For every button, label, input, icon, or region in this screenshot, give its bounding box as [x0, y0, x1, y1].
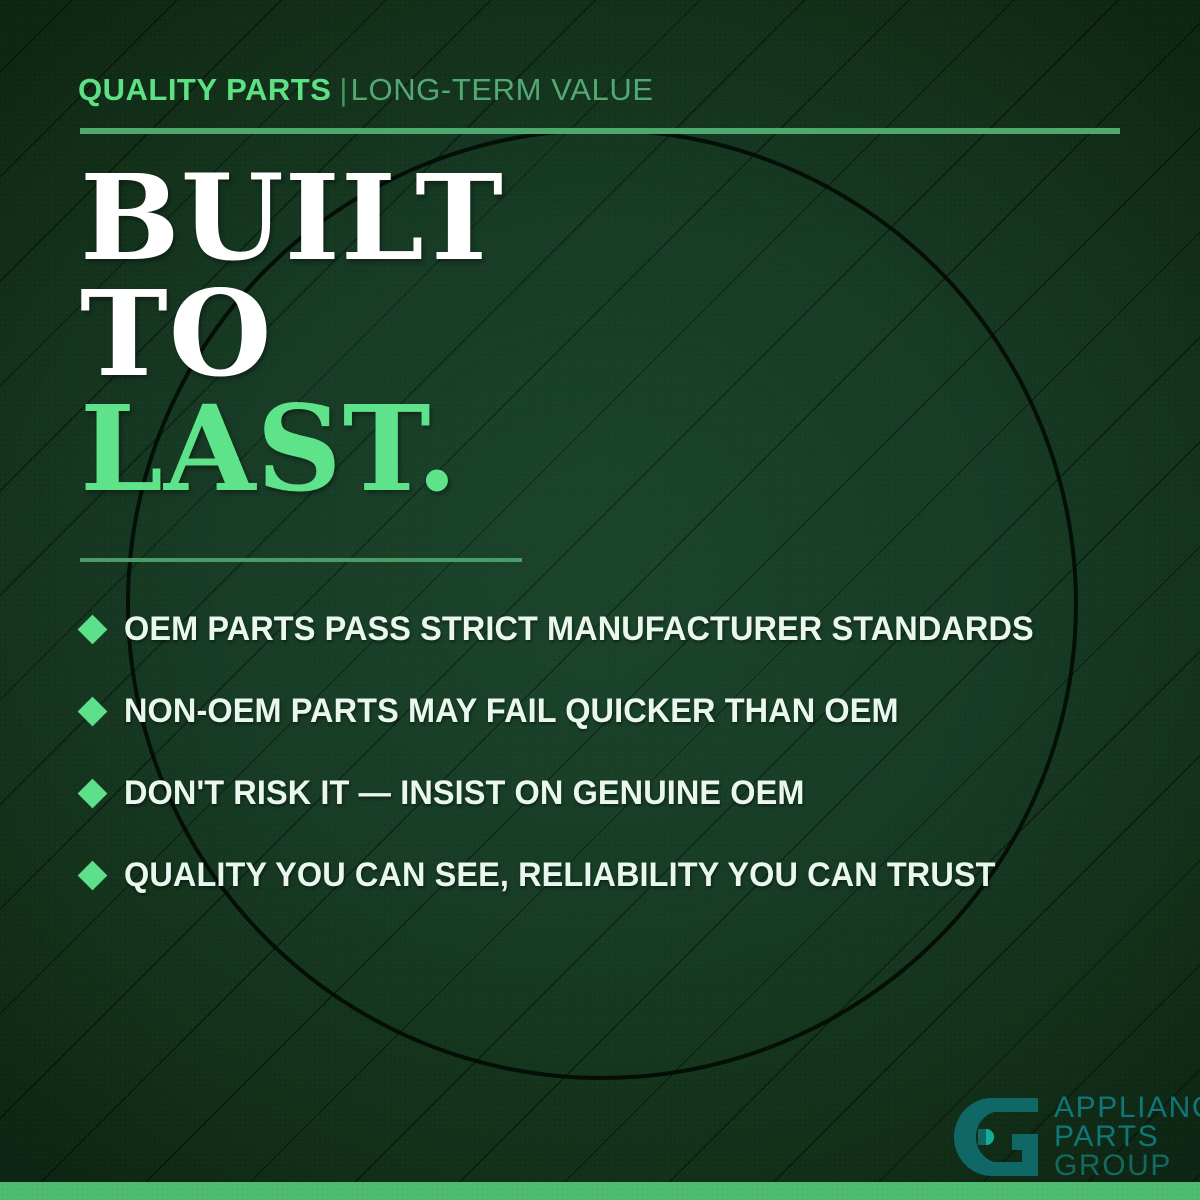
list-item-label: QUALITY YOU CAN SEE, RELIABILITY YOU CAN…: [124, 856, 996, 895]
eyebrow-kicker: QUALITY PARTS|LONG-TERM VALUE: [78, 74, 654, 105]
headline-line-2: TO: [80, 276, 504, 392]
brand-word-line-1: APPLIANCE: [1054, 1094, 1200, 1123]
brand-logo: APPLIANCE PARTS GROUP: [946, 1092, 1200, 1180]
poster-content: QUALITY PARTS|LONG-TERM VALUE BUILT TO L…: [0, 0, 1200, 1200]
brand-word-line-2: PARTS: [1054, 1123, 1200, 1152]
list-item: DON'T RISK IT — INSIST ON GENUINE OEM: [78, 752, 1158, 834]
headline-line-3-accent: LAST.: [80, 391, 504, 507]
bottom-strip-texture: [0, 1182, 1200, 1200]
brand-logo-wordmark: APPLIANCE PARTS GROUP: [1054, 1094, 1200, 1180]
brand-word-line-3: GROUP: [1054, 1152, 1200, 1181]
list-item: NON-OEM PARTS MAY FAIL QUICKER THAN OEM: [78, 670, 1158, 752]
list-item-label: DON'T RISK IT — INSIST ON GENUINE OEM: [124, 774, 805, 813]
benefits-list: OEM PARTS PASS STRICT MANUFACTURER STAND…: [78, 588, 1158, 916]
list-item-label: NON-OEM PARTS MAY FAIL QUICKER THAN OEM: [124, 692, 899, 731]
poster-canvas: QUALITY PARTS|LONG-TERM VALUE BUILT TO L…: [0, 0, 1200, 1200]
header-divider-rule: [80, 128, 1120, 134]
g-monogram-icon: [946, 1094, 1042, 1180]
list-item-label: OEM PARTS PASS STRICT MANUFACTURER STAND…: [124, 610, 1034, 649]
diamond-bullet-icon: [78, 696, 108, 726]
headline-divider-rule: [80, 558, 522, 562]
list-item: OEM PARTS PASS STRICT MANUFACTURER STAND…: [78, 588, 1158, 670]
diamond-bullet-icon: [78, 778, 108, 808]
headline-line-1: BUILT: [80, 160, 504, 276]
diamond-bullet-icon: [78, 614, 108, 644]
eyebrow-separator: |: [339, 72, 347, 107]
list-item: QUALITY YOU CAN SEE, RELIABILITY YOU CAN…: [78, 834, 1158, 916]
eyebrow-strong-text: QUALITY PARTS: [78, 72, 331, 107]
eyebrow-light-text: LONG-TERM VALUE: [351, 72, 654, 107]
page-title: BUILT TO LAST.: [80, 160, 504, 507]
bottom-accent-strip: [0, 1182, 1200, 1200]
diamond-bullet-icon: [78, 860, 108, 890]
